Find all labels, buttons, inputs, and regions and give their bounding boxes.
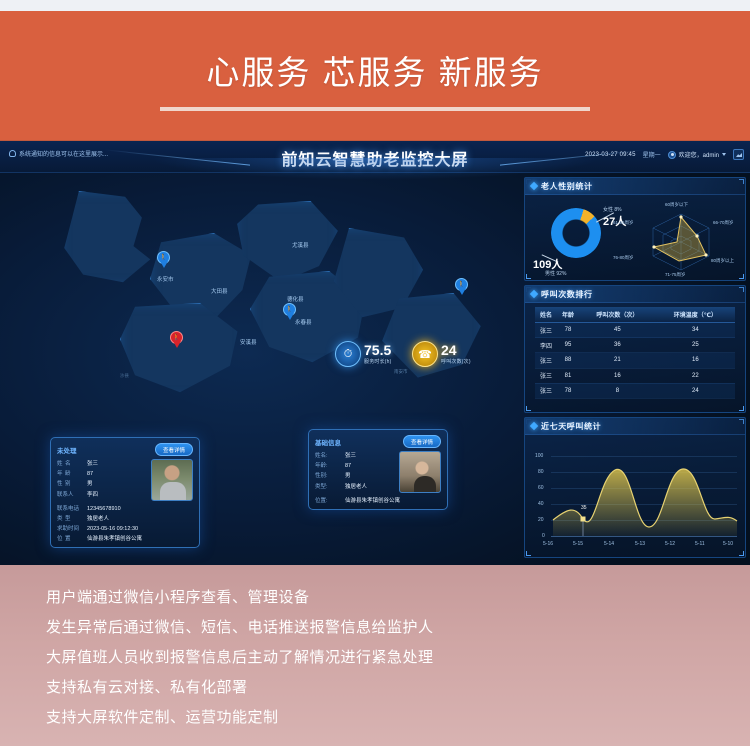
cell-temp: 34 (656, 323, 735, 338)
radar-axis-label: 80周岁以上 (711, 258, 734, 264)
cell-calls: 16 (579, 368, 656, 383)
donut-male-percent: 男性 92% (545, 270, 566, 277)
radar-axis-label: 71-75周岁 (665, 272, 686, 278)
cell-name: 李四 (535, 338, 557, 353)
stat-call-count: ☎ 24 呼叫次数(次) (412, 341, 471, 367)
cell-age: 78 (557, 323, 579, 338)
feature-description-block: 用户端通过微信小程序查看、管理设备 发生异常后通过微信、短信、电话推送报警信息给… (0, 565, 750, 746)
feature-line: 大屏值班人员收到报警信息后主动了解情况进行紧急处理 (46, 643, 750, 673)
info-key: 年龄 (57, 469, 87, 477)
info-value: 独居老人 (345, 482, 367, 490)
radar-svg (621, 198, 741, 280)
resident-photo (151, 459, 193, 501)
cell-temp: 25 (656, 338, 735, 353)
stat-service-hours: ⏱ 75.5 服务时长(h) (335, 341, 392, 367)
panel-header: 老人性别统计 (525, 178, 745, 195)
info-value: 张三 (87, 459, 98, 467)
diamond-icon (530, 182, 538, 190)
info-key: 类型: (315, 482, 345, 490)
gender-donut-chart: 女性 8% 27人 109人 男性 92% (531, 200, 627, 278)
panel-title: 呼叫次数排行 (541, 289, 593, 300)
panel-gender-stats: 老人性别统计 女性 8% 27人 109人 男性 92% (524, 177, 746, 281)
info-key: 性别: (315, 471, 345, 479)
table-row[interactable]: 张三882116 (535, 353, 735, 368)
info-value: 男 (87, 479, 93, 487)
cell-age: 78 (557, 383, 579, 398)
x-tick: 5-10 (723, 541, 733, 547)
info-value: 仙游县朱孝镇创谷公寓 (87, 534, 142, 542)
x-tick: 5-11 (695, 541, 705, 547)
table-header-row: 姓名 年龄 呼叫次数（次） 环境温度（℃） (535, 307, 735, 323)
base-card-header: 基础信息 查看详情 (315, 435, 441, 448)
info-row: 性别男 (57, 479, 146, 487)
app-grid-icon[interactable] (733, 149, 744, 160)
banner-top-strip (0, 0, 750, 11)
info-value: 2023-05-16 09:12:30 (87, 526, 138, 532)
cell-age: 95 (557, 338, 579, 353)
map-pin-blue[interactable]: 🚶 (283, 303, 296, 320)
panel-weekly-calls: 近七天呼叫统计 100 80 60 40 20 0 (524, 417, 746, 558)
info-value: 独居老人 (87, 514, 109, 522)
map-label: 南安市 (394, 369, 408, 375)
map-pin-alert[interactable]: 🚶 (170, 331, 183, 348)
resident-photo (399, 451, 441, 493)
x-tick: 5-12 (665, 541, 675, 547)
map-label: 安溪县 (240, 338, 257, 346)
info-value: 12345678910 (87, 506, 121, 512)
map-label: 大田县 (211, 287, 228, 295)
header-right-cluster: 2023-03-27 09:45 星期一 欢迎您，admin (585, 149, 744, 160)
info-value: 87 (87, 471, 93, 477)
info-row: 类型独居老人 (57, 514, 193, 522)
alarm-status-label: 未处理 (57, 445, 77, 455)
promo-banner: 心服务 芯服务 新服务 (0, 0, 750, 140)
header-datetime: 2023-03-27 09:45 (585, 152, 636, 158)
x-tick: 5-13 (635, 541, 645, 547)
call-ranking-table: 姓名 年龄 呼叫次数（次） 环境温度（℃） 张三784534李四953625张三… (535, 307, 735, 399)
point-annotation: 35 (581, 505, 587, 511)
stat-caption: 服务时长(h) (364, 360, 392, 365)
radar-axis-label: 76-80周岁 (613, 255, 634, 261)
donut-female-percent: 女性 8% (603, 206, 622, 213)
cell-calls: 36 (579, 338, 656, 353)
radar-axis-label: 61-65周岁 (613, 220, 634, 226)
radar-axis-label: 66-70周岁 (713, 220, 734, 226)
col-calls: 呼叫次数（次） (579, 307, 656, 323)
base-status-label: 基础信息 (315, 437, 341, 447)
cell-temp: 22 (656, 368, 735, 383)
info-row: 位置:仙游县朱孝镇创谷公寓 (315, 496, 441, 504)
map-label: 永春县 (295, 318, 312, 326)
info-value: 李四 (87, 490, 98, 498)
age-radar-chart: 60周岁以下 66-70周岁 80周岁以上 71-75周岁 76-80周岁 61… (621, 198, 741, 280)
info-value: 87 (345, 463, 351, 469)
info-row: 位置仙游县朱孝镇创谷公寓 (57, 534, 193, 542)
table-row[interactable]: 张三811622 (535, 368, 735, 383)
table-row[interactable]: 张三78824 (535, 383, 735, 398)
x-tick: 5-16 (543, 541, 553, 547)
map-region-shape (120, 303, 245, 398)
cell-calls: 21 (579, 353, 656, 368)
info-key: 年龄: (315, 461, 345, 469)
info-key: 位置: (315, 496, 345, 504)
diamond-icon (530, 422, 538, 430)
cell-calls: 45 (579, 323, 656, 338)
area-chart: 100 80 60 40 20 0 (525, 435, 747, 559)
base-info-card[interactable]: 基础信息 查看详情 姓名:张三 年龄:87 性别:男 类型:独居老人 位置:仙游… (308, 429, 448, 510)
cell-temp: 24 (656, 383, 735, 398)
panel-title: 老人性别统计 (541, 181, 593, 192)
feature-line: 支持私有云对接、私有化部署 (46, 673, 750, 703)
info-key: 性别 (57, 479, 87, 487)
map-label: 尤溪县 (292, 241, 309, 249)
info-row: 年龄:87 (315, 461, 394, 469)
banner-underline (160, 107, 590, 111)
x-tick: 5-14 (604, 541, 614, 547)
user-menu[interactable]: 欢迎您，admin (668, 150, 726, 159)
panel-header: 呼叫次数排行 (525, 286, 745, 303)
table-row[interactable]: 张三784534 (535, 323, 735, 338)
info-row: 联系人李四 (57, 490, 146, 498)
map-label: 永安市 (157, 275, 174, 283)
x-tick: 5-15 (573, 541, 583, 547)
info-value: 张三 (345, 451, 356, 459)
feature-line: 支持大屏软件定制、运营功能定制 (46, 703, 750, 733)
stat-value: 24 (441, 343, 471, 357)
col-temp: 环境温度（℃） (656, 307, 735, 323)
map-label: 沙县 (120, 373, 129, 379)
cell-calls: 8 (579, 383, 656, 398)
info-value: 仙游县朱孝镇创谷公寓 (345, 496, 400, 504)
panel-call-ranking: 呼叫次数排行 姓名 年龄 呼叫次数（次） 环境温度（℃） 张三784534李四9… (524, 285, 746, 413)
col-age: 年龄 (557, 307, 579, 323)
cell-name: 张三 (535, 323, 557, 338)
cell-temp: 16 (656, 353, 735, 368)
info-key: 联系人 (57, 490, 87, 498)
user-avatar-icon (668, 151, 676, 159)
view-detail-button[interactable]: 查看详情 (155, 443, 193, 456)
info-row: 姓名:张三 (315, 451, 394, 459)
chevron-down-icon (722, 153, 726, 156)
alarm-info-card[interactable]: 未处理 查看详情 姓名张三 年龄87 性别男 联系人李四 联系电话1234567… (50, 437, 200, 548)
stat-value: 75.5 (364, 343, 392, 357)
cell-name: 张三 (535, 353, 557, 368)
feature-line: 发生异常后通过微信、短信、电话推送报警信息给监护人 (46, 613, 750, 643)
info-row: 姓名张三 (57, 459, 146, 467)
dashboard-header: 系统通知的信息可以在这里展示... 前知云智慧助老监控大屏 2023-03-27… (0, 141, 750, 173)
map-region-shape (60, 191, 165, 286)
donut-ring (551, 208, 601, 258)
banner-title: 心服务 芯服务 新服务 (206, 46, 543, 94)
map-pin-blue[interactable]: 🚶 (455, 278, 468, 295)
alarm-card-header: 未处理 查看详情 (57, 443, 193, 456)
info-key: 联系电话 (57, 504, 87, 512)
info-value: 男 (345, 471, 351, 479)
dashboard-screenshot: 尤溪县 大田县 德化县 永春县 安溪县 永安市 沙县 南安市 🚶 🚶 🚶 🚶 系… (0, 140, 750, 565)
info-key: 姓名 (57, 459, 87, 467)
panel-header: 近七天呼叫统计 (525, 418, 745, 435)
view-detail-button[interactable]: 查看详情 (403, 435, 441, 448)
info-row: 性别:男 (315, 471, 394, 479)
info-row: 年龄87 (57, 469, 146, 477)
cell-age: 88 (557, 353, 579, 368)
map-pin-blue[interactable]: 🚶 (157, 251, 170, 268)
feature-line: 用户端通过微信小程序查看、管理设备 (46, 583, 750, 613)
info-row: 类型:独居老人 (315, 482, 394, 490)
panel-title: 近七天呼叫统计 (541, 421, 601, 432)
user-name-label: 欢迎您，admin (679, 150, 719, 159)
cell-name: 张三 (535, 368, 557, 383)
map-label: 德化县 (287, 295, 304, 303)
col-name: 姓名 (535, 307, 557, 323)
table-row[interactable]: 李四953625 (535, 338, 735, 353)
info-key: 姓名: (315, 451, 345, 459)
info-row: 联系电话12345678910 (57, 504, 193, 512)
diamond-icon (530, 290, 538, 298)
info-key: 求助时间 (57, 524, 87, 532)
radar-axis-label: 60周岁以下 (665, 202, 688, 208)
phone-icon: ☎ (412, 341, 438, 367)
cell-name: 张三 (535, 383, 557, 398)
info-key: 类型 (57, 514, 87, 522)
cell-age: 81 (557, 368, 579, 383)
clock-icon: ⏱ (335, 341, 361, 367)
stat-caption: 呼叫次数(次) (441, 360, 471, 365)
info-row: 求助时间2023-05-16 09:12:30 (57, 524, 193, 532)
header-weekday: 星期一 (643, 150, 661, 159)
info-key: 位置 (57, 534, 87, 542)
